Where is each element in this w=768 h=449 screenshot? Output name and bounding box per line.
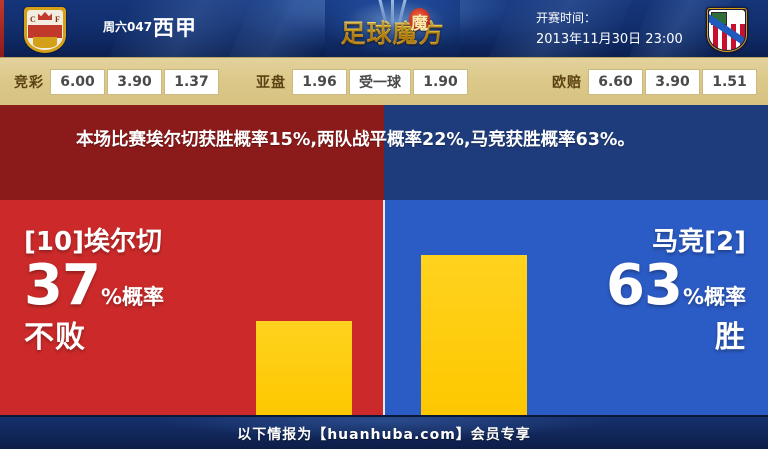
odds-group-oupei: 欧赔 6.60 3.90 1.51 bbox=[552, 69, 759, 95]
away-stats-block: 马竞[2] 63 %概率 胜 bbox=[606, 226, 746, 356]
banner-summary-text: 本场比赛埃尔切获胜概率15%,两队战平概率22%,马竞获胜概率63%。 bbox=[76, 126, 736, 155]
logo-accent-char: 魔 bbox=[409, 9, 430, 34]
odds-cell-handicap[interactable]: 受一球 bbox=[349, 69, 411, 95]
home-stats-block: [10]埃尔切 37 %概率 不败 bbox=[24, 226, 164, 356]
kickoff-label: 开赛时间： bbox=[536, 9, 596, 26]
logo-text: 足球魔方 bbox=[325, 14, 460, 50]
probability-chart: [10]埃尔切 37 %概率 不败 马竞[2] 63 %概率 胜 bbox=[0, 200, 768, 415]
home-outcome-label: 不败 bbox=[24, 320, 164, 356]
home-team-crest-icon: C F bbox=[24, 7, 66, 53]
odds-group-jingcai: 竞彩 6.00 3.90 1.37 bbox=[14, 69, 221, 95]
odds-bar: 竞彩 6.00 3.90 1.37 亚盘 1.96 受一球 1.90 欧赔 6.… bbox=[0, 57, 768, 107]
odds-cell-draw[interactable]: 3.90 bbox=[107, 69, 162, 95]
odds-cell-home[interactable]: 1.96 bbox=[292, 69, 347, 95]
away-panel: 马竞[2] 63 %概率 胜 bbox=[384, 200, 768, 415]
probability-summary-banner: 本场比赛埃尔切获胜概率15%,两队战平概率22%,马竞获胜概率63%。 bbox=[0, 105, 768, 200]
home-probability-value: 37 bbox=[24, 256, 100, 316]
odds-group-yapan: 亚盘 1.96 受一球 1.90 bbox=[256, 69, 470, 95]
odds-group-label: 亚盘 bbox=[256, 69, 292, 95]
home-probability-bar bbox=[256, 321, 352, 415]
odds-cell-draw[interactable]: 3.90 bbox=[645, 69, 700, 95]
odds-cell-away[interactable]: 1.51 bbox=[702, 69, 757, 95]
away-team-crest-icon bbox=[706, 7, 748, 53]
odds-cell-away[interactable]: 1.37 bbox=[164, 69, 219, 95]
kickoff-time: 2013年11月30日 23:00 bbox=[536, 28, 683, 47]
away-outcome-label: 胜 bbox=[606, 320, 746, 356]
footer-bar: 以下情报为【huanhuba.com】会员专享 bbox=[0, 415, 768, 449]
footer-notice-text: 以下情报为【huanhuba.com】会员专享 bbox=[237, 424, 531, 444]
away-probability-bar bbox=[421, 255, 527, 415]
round-label: 周六047 bbox=[103, 18, 152, 35]
odds-cell-home[interactable]: 6.00 bbox=[50, 69, 105, 95]
away-probability-unit: %概率 bbox=[683, 281, 746, 311]
home-probability-unit: %概率 bbox=[101, 281, 164, 311]
header-red-accent bbox=[0, 0, 4, 57]
odds-cell-home[interactable]: 6.60 bbox=[588, 69, 643, 95]
odds-group-label: 竞彩 bbox=[14, 69, 50, 95]
odds-group-label: 欧赔 bbox=[552, 69, 588, 95]
odds-cell-away[interactable]: 1.90 bbox=[413, 69, 468, 95]
match-probability-infographic: C F 周六047 西甲 足球魔方 魔 开赛时间： 2013年11月30日 23… bbox=[0, 0, 768, 449]
home-panel: [10]埃尔切 37 %概率 不败 bbox=[0, 200, 384, 415]
site-logo[interactable]: 足球魔方 魔 bbox=[325, 0, 460, 57]
league-name: 西甲 bbox=[153, 12, 197, 42]
crest-letter-left: C bbox=[30, 15, 36, 24]
crest-letter-right: F bbox=[55, 15, 60, 24]
header-bar: C F 周六047 西甲 足球魔方 魔 开赛时间： 2013年11月30日 23… bbox=[0, 0, 768, 57]
away-probability-value: 63 bbox=[606, 256, 682, 316]
panel-divider bbox=[383, 200, 385, 415]
